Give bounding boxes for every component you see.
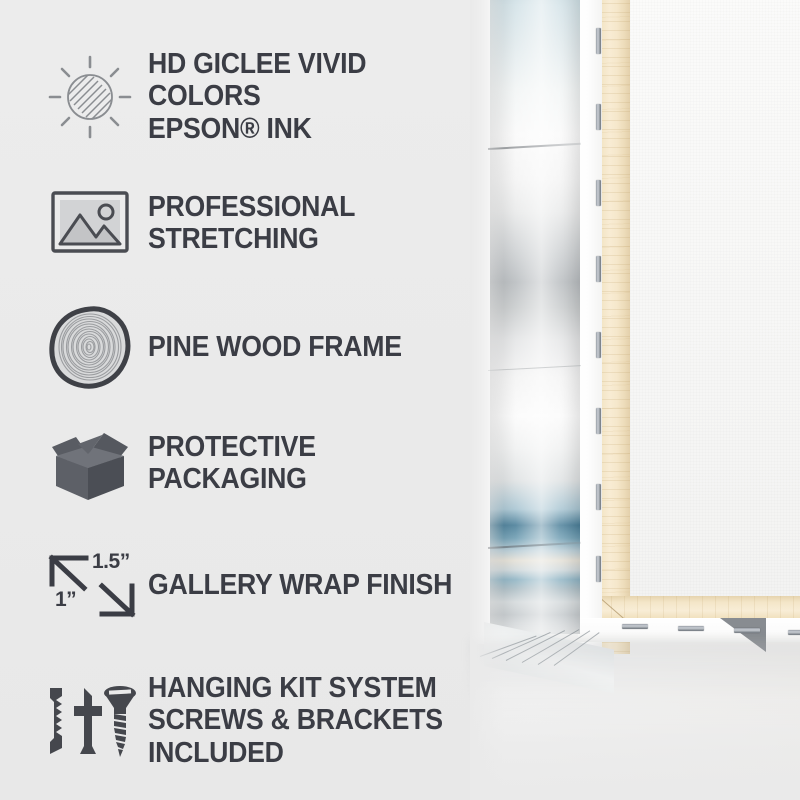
tree-rings-icon xyxy=(40,303,140,391)
feature-item-hd-giclee: HD GICLEE VIVID COLORS EPSON® INK xyxy=(40,48,500,145)
canvas-back-panel xyxy=(618,0,800,642)
feature-label: HANGING KIT SYSTEM SCREWS & BRACKETS INC… xyxy=(148,672,472,769)
product-photo xyxy=(470,0,800,800)
staple xyxy=(734,628,760,633)
staple xyxy=(596,28,601,54)
staple xyxy=(596,484,601,510)
feature-label: GALLERY WRAP FINISH xyxy=(148,569,452,601)
feature-item-hanging-kit: HANGING KIT SYSTEM SCREWS & BRACKETS INC… xyxy=(40,672,500,769)
dimension-arrows-icon: 1.5” 1” xyxy=(40,548,140,622)
staple xyxy=(678,626,704,631)
feature-label: PINE WOOD FRAME xyxy=(148,331,402,363)
feature-list: HD GICLEE VIVID COLORS EPSON® INK PROFES… xyxy=(0,0,500,800)
dimension-label-width: 1” xyxy=(55,588,76,612)
staple xyxy=(788,630,800,635)
hanging-hardware-icon xyxy=(40,680,140,762)
staple xyxy=(622,624,648,629)
staple xyxy=(596,408,601,434)
sun-brightness-icon xyxy=(40,51,140,143)
staple xyxy=(596,256,601,282)
feature-item-pine-wood-frame: PINE WOOD FRAME xyxy=(40,303,424,391)
feature-label: HD GICLEE VIVID COLORS EPSON® INK xyxy=(148,48,472,145)
framed-picture-icon xyxy=(40,185,140,261)
feature-item-gallery-wrap-finish: 1.5” 1” GALLERY WRAP FINISH xyxy=(40,548,479,622)
feature-label: PROTECTIVE PACKAGING xyxy=(148,431,472,496)
pine-stretcher-bar-vertical xyxy=(598,0,630,654)
dimension-label-depth: 1.5” xyxy=(92,550,130,574)
photo-bottom-feather xyxy=(470,690,800,800)
infographic-canvas: HD GICLEE VIVID COLORS EPSON® INK PROFES… xyxy=(0,0,800,800)
staple xyxy=(596,180,601,206)
feature-item-professional-stretching: PROFESSIONAL STRETCHING xyxy=(40,185,500,261)
feature-item-protective-packaging: PROTECTIVE PACKAGING xyxy=(40,420,500,506)
staple xyxy=(596,556,601,582)
staple xyxy=(596,332,601,358)
open-box-icon xyxy=(40,420,140,506)
feature-label: PROFESSIONAL STRETCHING xyxy=(148,191,472,256)
staple xyxy=(596,104,601,130)
